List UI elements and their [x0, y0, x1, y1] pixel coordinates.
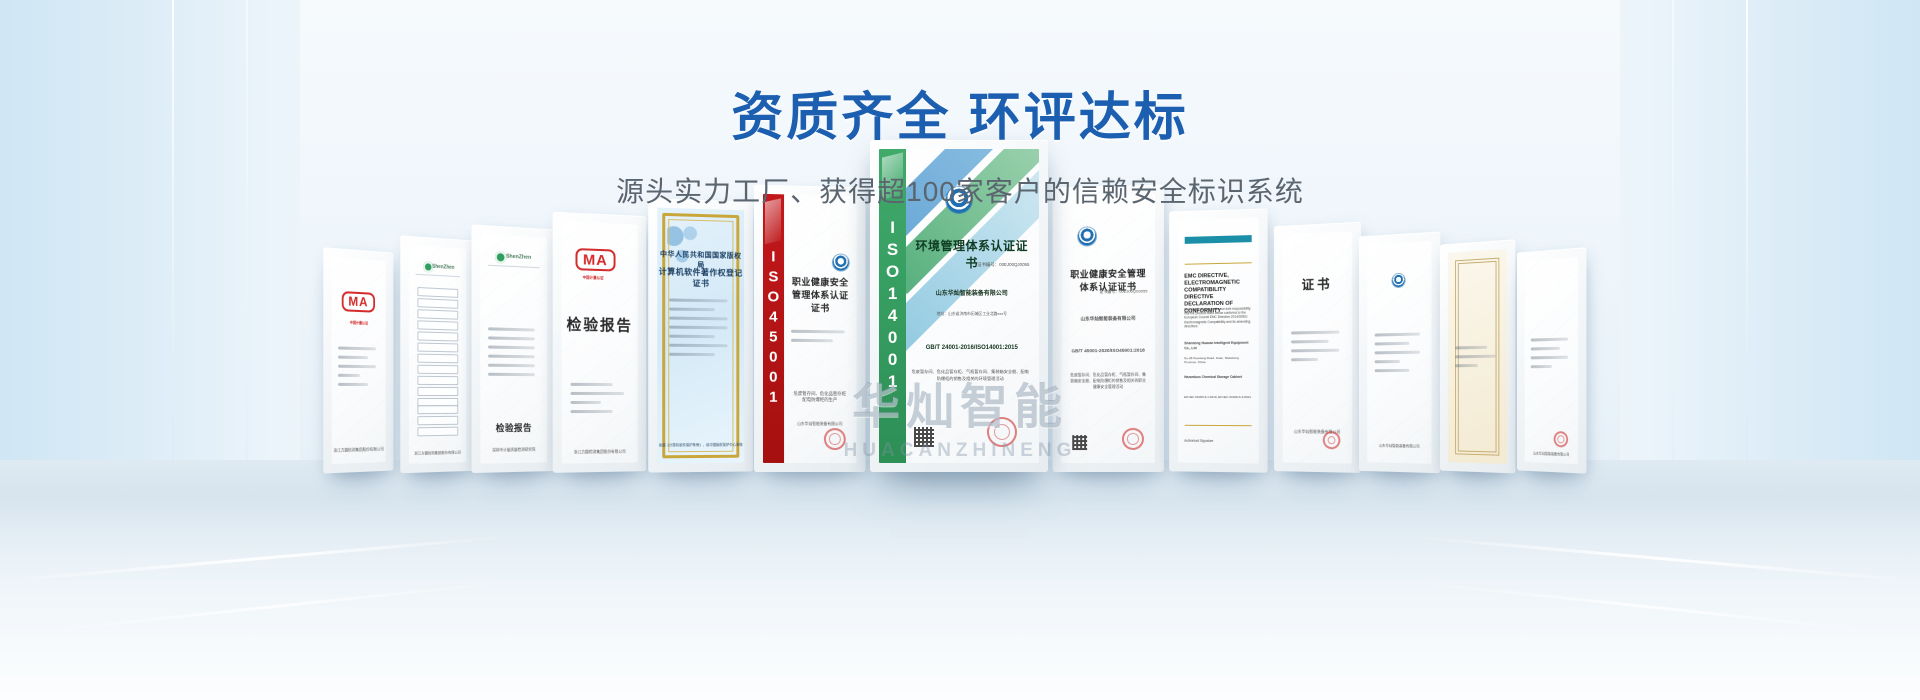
- eu-doc-signatory: Authorised Signature: [1184, 439, 1252, 444]
- body-text-lines: [1531, 332, 1572, 375]
- certificate-title: 检验报告: [480, 420, 547, 434]
- certificate-number: 证书编号：00EJ00QJ0055: [914, 262, 1029, 269]
- certificate-frame-inspection-report-sz[interactable]: ShenZhen 检验报告 深圳市计量质量检测研究院: [472, 224, 556, 473]
- certificate-standard: GB/T 24001-2016/ISO14001:2015: [914, 344, 1029, 353]
- certificate-frame-diploma-beige[interactable]: [1440, 239, 1516, 473]
- eu-doc-body: We hereby declare under our sole respons…: [1184, 306, 1252, 328]
- body-text-lines: [1455, 339, 1500, 373]
- certificate-scope: 危废暂存间、危化品暂存柜 配电防爆柜的生产: [787, 391, 852, 405]
- eu-doc-manufacturer: Shandong Huacan Intelligent Equipment Co…: [1184, 341, 1252, 351]
- headline-block: 资质齐全 环评达标 源头实力工厂、获得超100家客户的信赖安全标识系统: [0, 92, 1920, 210]
- certificate-company: 山东华灿智能装备有限公司: [1069, 315, 1148, 323]
- certificate-frame-blank-cert-2[interactable]: 山东华灿智能装备有限公司: [1517, 247, 1587, 473]
- certificate-frame-blank-cert-1[interactable]: 山东华灿智能装备有限公司: [1359, 231, 1440, 473]
- certificate-company: 山东华灿智能装备有限公司: [914, 290, 1029, 299]
- certificate-title: 职业健康安全管理体系认证证书: [787, 275, 852, 315]
- certification-banner: 资质齐全 环评达标 源头实力工厂、获得超100家客户的信赖安全标识系统 MA 中…: [0, 0, 1920, 700]
- certificate-frame-iso45001[interactable]: ISO45001 职业健康安全管理体系认证证书 危废暂存间、危化品暂存柜 配电防…: [754, 185, 866, 472]
- copyright-field-lines: [670, 292, 733, 362]
- certificate-frame-inspection-report-zj[interactable]: ShenZhen 浙江方圆检测集团股份有限公司: [400, 235, 474, 473]
- certificate-frame-iso45001-cn[interactable]: 职业健康安全管理体系认证证书 证书编号：00EJ00QS0055 山东华灿智能装…: [1052, 185, 1164, 472]
- certificate-frame-software-copyright[interactable]: 中华人民共和国国家版权局 计算机软件著作权登记证书 依据《计算机软件保护条例》，…: [648, 198, 753, 472]
- copyright-footer: 依据《计算机软件保护条例》，经中国版权保护中心审核: [657, 442, 744, 448]
- certificate-company: 山东华灿智能装备有限公司: [1283, 429, 1353, 436]
- iso-spine-label: ISO14001: [884, 218, 901, 394]
- eu-doc-product: Hazardous Chemical Storage Cabinet: [1184, 375, 1252, 380]
- page-title: 资质齐全 环评达标: [0, 92, 1920, 144]
- iso-spine-bar: ISO45001: [763, 194, 784, 463]
- org-seal-label: ShenZhen: [506, 254, 531, 261]
- eu-doc-standards: EN IEC 61000-6-1:2019, EN IEC 61000-6-3:…: [1184, 395, 1252, 399]
- qr-code-icon: [914, 427, 934, 447]
- certificate-scope: 危废暂存间、危化品暂存柜、气瓶暂存间、集装箱安全舱、配电防爆柜的销售及相关的职业…: [1069, 372, 1148, 391]
- field-box-list-2: [417, 402, 458, 437]
- certificate-standard: GB/T 45001-2020/ISO45001:2018: [1069, 347, 1148, 355]
- eu-doc-title-line-1: EMC DIRECTIVE,: [1184, 272, 1229, 279]
- page-subtitle: 源头实力工厂、获得超100家客户的信赖安全标识系统: [0, 170, 1920, 210]
- certificate-title: 证书: [1283, 273, 1353, 294]
- eu-doc-address: No.28 Huaxiang Road, Jinan, Shandong Pro…: [1184, 355, 1252, 364]
- certificate-address: 地址：山东省济南市历城区工业北路xxx号: [914, 312, 1029, 318]
- certificate-frame-cma-test-report-1[interactable]: MA 中国计量认证 浙江方圆检测集团股份有限公司: [323, 247, 393, 473]
- org-seal-label: ShenZhen: [432, 264, 454, 271]
- certificate-title: 检验报告: [562, 313, 638, 336]
- body-text-lines: [338, 340, 379, 392]
- certificate-scope: 危废暂存间、危化品暂存柜、气瓶暂存间、集装箱安全舱、配电防爆柜的销售及相关的环境…: [911, 369, 1029, 382]
- body-text-lines: [1375, 326, 1424, 378]
- certificate-frame-cma-inspection[interactable]: MA 中国计量认证 检验报告 浙江方圆检测集团股份有限公司: [553, 212, 647, 473]
- field-lines: [571, 376, 629, 418]
- body-text-lines: [1291, 324, 1344, 367]
- ma-badge: MA: [576, 248, 616, 271]
- iso-spine-label: ISO45001: [766, 248, 781, 409]
- certificate-frame-eu-declaration[interactable]: EMC DIRECTIVE, ELECTROMAGNETIC COMPATIBI…: [1169, 208, 1267, 472]
- qr-code-icon: [1073, 435, 1088, 450]
- certificate-number: 证书编号：00EJ00QS0055: [1069, 288, 1148, 295]
- certificate-company: 山东华灿智能装备有限公司: [787, 422, 852, 428]
- eu-doc-title-line-2: ELECTROMAGNETIC COMPATIBILITY DIRECTIVE: [1184, 279, 1240, 300]
- certificate-frame-honor-certificate[interactable]: 证书 山东华灿智能装备有限公司: [1274, 222, 1361, 473]
- certificate-company: 浙江方圆检测集团股份有限公司: [562, 450, 638, 457]
- field-lines: [488, 322, 539, 383]
- scope-lines: [791, 323, 849, 348]
- accreditation-emblem-icon: [832, 254, 848, 270]
- field-box-list: [417, 285, 458, 409]
- copyright-title-line2: 计算机软件著作权登记证书: [657, 266, 744, 290]
- ma-badge: MA: [342, 291, 375, 313]
